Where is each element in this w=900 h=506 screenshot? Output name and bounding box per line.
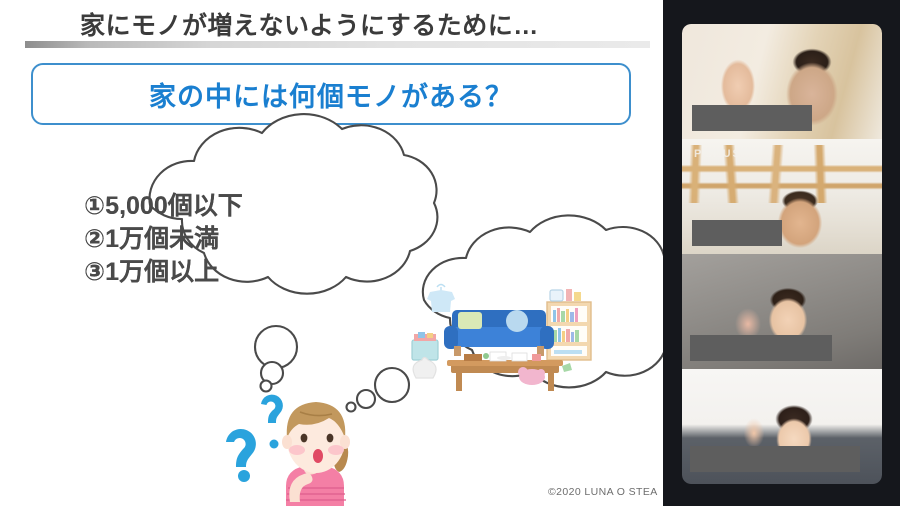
answer-options-list: ①5,000個以下 ②1万個未満 ③1万個以上 — [84, 190, 374, 289]
eye-left — [301, 434, 308, 443]
participant-name-redaction-4 — [690, 446, 860, 472]
question-mark-small-icon — [261, 395, 283, 449]
copyright-notice: ©2020 LUNA O STEA — [548, 486, 658, 498]
sofa-icon — [444, 310, 554, 356]
participant-tile-1[interactable] — [682, 24, 882, 139]
answer-option-3: ③1万個以上 — [84, 256, 374, 289]
eye-right — [327, 434, 334, 443]
participant-tile-4[interactable] — [682, 369, 882, 484]
participant-name-redaction-2 — [692, 220, 782, 246]
mouth — [313, 449, 323, 463]
blush-right — [328, 445, 344, 455]
cluttered-living-room-illustration — [404, 274, 604, 394]
stuffed-toy-icon — [518, 367, 545, 385]
question-mark-large-icon — [226, 429, 256, 482]
video-call-sidebar: POLUS — [663, 0, 900, 506]
bookshelf-icon — [547, 289, 591, 360]
participant-tile-strip: POLUS — [682, 24, 882, 484]
small-green-toy-icon — [562, 363, 572, 372]
floor-shadow — [497, 356, 511, 360]
answer-option-2: ②1万個未満 — [84, 223, 374, 256]
blush-left — [289, 445, 305, 455]
participant-tile-2[interactable]: POLUS — [682, 139, 882, 254]
polus-logo-watermark: POLUS — [694, 148, 742, 160]
participant-name-redaction-3 — [690, 335, 832, 361]
thinking-woman-character — [216, 382, 362, 506]
participant-tile-3-active-speaker[interactable] — [682, 254, 882, 369]
presentation-slide: 家にモノが増えないようにするために… 家の中には何個モノがある？ ①5,000個… — [0, 0, 663, 506]
hanging-shirt-icon — [427, 285, 455, 313]
participant-name-redaction-1 — [692, 105, 812, 131]
ear-left — [282, 435, 292, 449]
answer-option-1: ①5,000個以下 — [84, 190, 374, 223]
